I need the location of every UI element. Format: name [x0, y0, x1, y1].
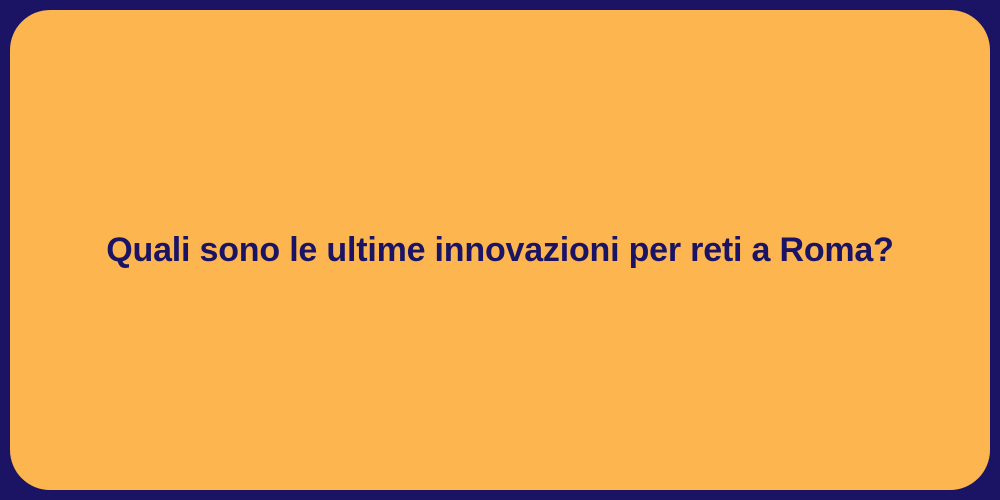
banner-frame: Quali sono le ultime innovazioni per ret… — [0, 0, 1000, 500]
banner-headline: Quali sono le ultime innovazioni per ret… — [106, 229, 893, 272]
banner-card: Quali sono le ultime innovazioni per ret… — [10, 10, 990, 490]
